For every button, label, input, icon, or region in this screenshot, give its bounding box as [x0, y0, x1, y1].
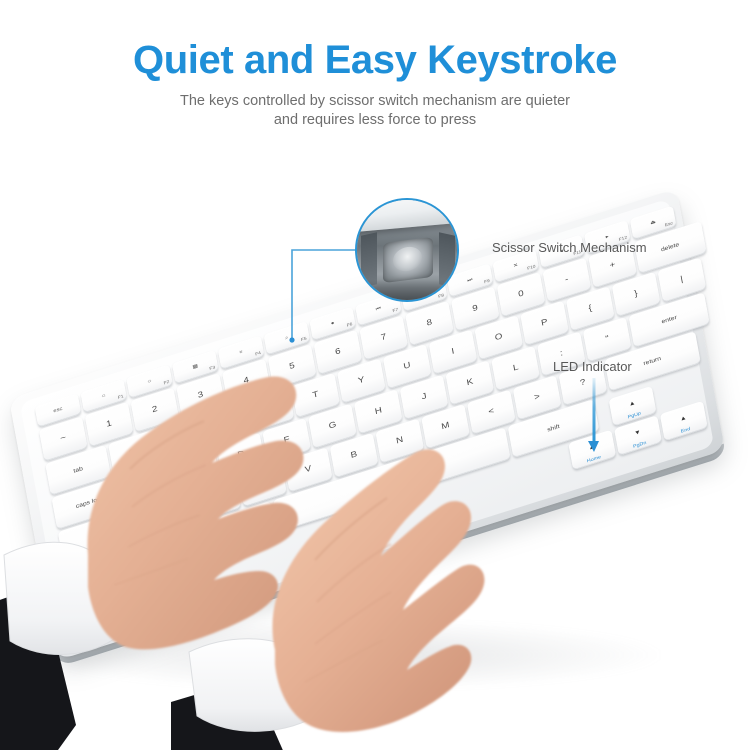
key-label: Q: [128, 448, 137, 458]
key-label: |: [680, 276, 684, 285]
key-label: F4: [255, 351, 261, 358]
key-label: F2: [163, 380, 169, 387]
key-label: F3: [209, 365, 215, 372]
key-label: PgDn: [633, 441, 647, 450]
key-label: fn: [85, 572, 92, 579]
page-subtitle: The keys controlled by scissor switch me…: [0, 92, 750, 130]
key-label: R: [266, 405, 274, 415]
key-label: option: [238, 519, 257, 530]
key-label: ●: [330, 321, 334, 327]
key-label: alt: [189, 538, 197, 546]
key-label: 0: [518, 290, 525, 300]
key-end[interactable]: ▲End: [660, 401, 708, 441]
key-label: D: [237, 450, 245, 460]
key-label: ⌗: [239, 350, 243, 356]
key-label: O: [494, 332, 503, 342]
callout-label-scissor-switch: Scissor Switch Mechanism: [492, 240, 647, 255]
key-label: 1: [106, 420, 113, 430]
page-title: Quiet and Easy Keystroke: [0, 38, 750, 83]
key-label: 5: [289, 362, 296, 372]
key-label: }: [634, 290, 639, 299]
key-label: F5: [301, 336, 307, 343]
key-label: ": [605, 335, 610, 344]
key-label: V: [304, 465, 312, 475]
key-label: ⌕: [285, 335, 289, 341]
key-label: shift: [547, 424, 560, 433]
key-label: esc: [53, 407, 63, 415]
subtitle-line-1: The keys controlled by scissor switch me…: [0, 92, 750, 111]
key-label: H: [374, 407, 382, 417]
key-label: Y: [358, 376, 366, 386]
key-label: {: [588, 304, 593, 313]
key-label: >: [534, 393, 541, 403]
key-label: L: [512, 363, 519, 373]
key-label: Esc: [664, 221, 673, 228]
key-label: X: [213, 494, 221, 504]
key-label: U: [403, 361, 411, 371]
key-label: K: [466, 378, 474, 388]
key-label: P: [541, 318, 549, 328]
key-label: 3: [197, 391, 204, 401]
key-label: 8: [426, 319, 433, 329]
key-label: ▼: [634, 429, 642, 437]
key-label: F1: [118, 394, 124, 401]
key-label: N: [396, 436, 404, 446]
key-label: -: [565, 276, 570, 285]
key-label: End: [680, 427, 690, 435]
key-label: caps lock: [75, 495, 104, 509]
key-label: ☼: [101, 393, 107, 399]
key-label: tab: [73, 466, 83, 474]
key-label: ~: [60, 434, 67, 444]
key-label: F6: [346, 322, 352, 329]
key-label: ☼: [146, 378, 152, 384]
key-label: Home: [587, 455, 602, 464]
key-label: <: [488, 407, 495, 417]
key-label: 7: [380, 333, 387, 343]
key-label: ▦: [192, 364, 198, 370]
key-label: ⏭: [467, 277, 473, 283]
key-label: 2: [151, 405, 158, 415]
key-label: PgUp: [627, 411, 641, 420]
key-label: B: [350, 450, 358, 460]
inset-shadow: [357, 280, 457, 300]
key-label: return: [643, 356, 661, 367]
key-label: W: [173, 433, 183, 444]
key-label: I: [451, 348, 455, 357]
key-label: ✕: [513, 263, 519, 269]
key-label: T: [312, 390, 319, 400]
key-label: E: [220, 419, 228, 429]
key-label: M: [441, 421, 450, 431]
key-label: Z: [167, 508, 174, 518]
key-label: 4: [243, 376, 250, 386]
key-label: 6: [335, 347, 342, 357]
key-label: F: [283, 436, 290, 446]
key-label: S: [191, 464, 199, 474]
product-marketing-image: Quiet and Easy Keystroke The keys contro…: [0, 0, 750, 750]
key-label: F10: [527, 264, 536, 271]
callout-label-led-indicator: LED Indicator: [553, 359, 632, 374]
key-label: enter: [661, 315, 677, 325]
key-label: ⏏: [650, 219, 656, 225]
key-label: G: [328, 421, 337, 431]
key-label: :: [560, 349, 564, 358]
key-label: ⏮: [375, 306, 381, 312]
key-label: F9: [484, 279, 490, 286]
key-label: A: [146, 479, 154, 489]
key-label: C: [258, 479, 266, 489]
key-label: shift: [97, 530, 110, 539]
key-label: control: [128, 553, 149, 565]
key-label: delete: [661, 242, 680, 253]
key-label: F7: [392, 307, 398, 314]
key-label: +: [609, 261, 616, 271]
key-label: J: [421, 392, 427, 401]
key-label: ▲: [679, 415, 687, 423]
scissor-switch-inset-photo: [355, 198, 459, 302]
key-label: ▲: [628, 400, 636, 408]
key-label: ▲: [588, 443, 596, 451]
key-label: 9: [472, 304, 479, 314]
key-label: ?: [580, 378, 587, 388]
subtitle-line-2: and requires less force to press: [0, 111, 750, 130]
